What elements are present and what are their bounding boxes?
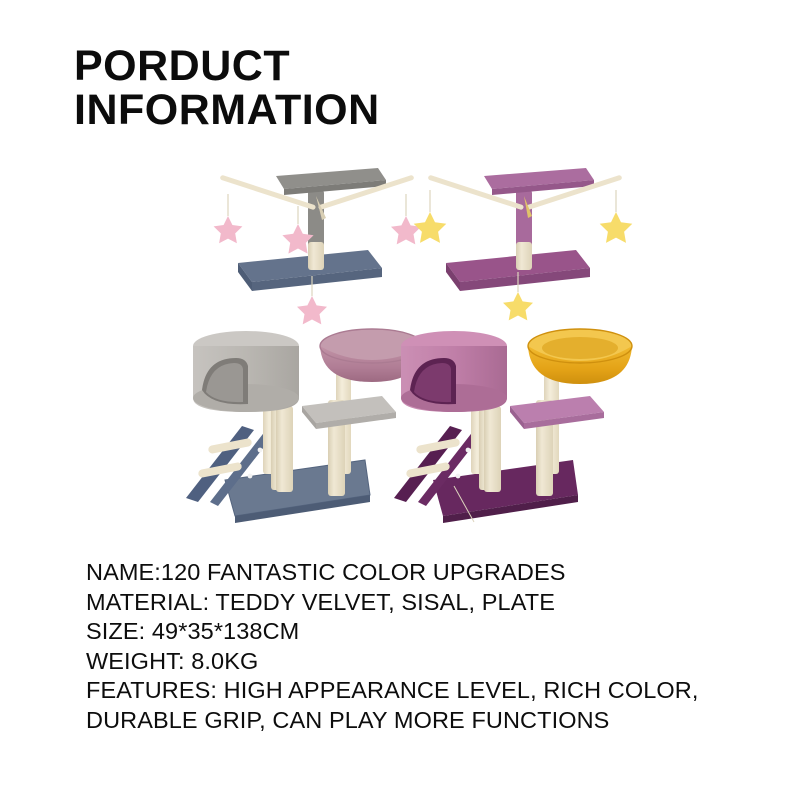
- spec-line-features-2: DURABLE GRIP, CAN PLAY MORE FUNCTIONS: [86, 706, 786, 736]
- product-specs: NAME:120 FANTASTIC COLOR UPGRADES MATERI…: [86, 558, 786, 735]
- spec-line-name: NAME:120 FANTASTIC COLOR UPGRADES: [86, 558, 786, 588]
- page-title-line-2: INFORMATION: [74, 88, 774, 132]
- page-title: PORDUCT INFORMATION: [74, 44, 774, 132]
- left-condo: [193, 331, 299, 412]
- product-information-page: PORDUCT INFORMATION: [0, 0, 800, 800]
- product-photo: [150, 150, 670, 540]
- spec-line-features-1: FEATURES: HIGH APPEARANCE LEVEL, RICH CO…: [86, 676, 786, 706]
- spec-line-material: MATERIAL: TEDDY VELVET, SISAL, PLATE: [86, 588, 786, 618]
- cat-tree-right: [394, 168, 632, 523]
- left-small-platform: [302, 396, 396, 429]
- right-condo: [401, 331, 507, 412]
- page-title-line-1: PORDUCT: [74, 44, 774, 88]
- right-small-platform: [510, 396, 604, 429]
- cat-tree-left: [186, 168, 424, 523]
- spec-line-size: SIZE: 49*35*138CM: [86, 617, 786, 647]
- spec-line-weight: WEIGHT: 8.0KG: [86, 647, 786, 677]
- right-basket: [528, 329, 632, 384]
